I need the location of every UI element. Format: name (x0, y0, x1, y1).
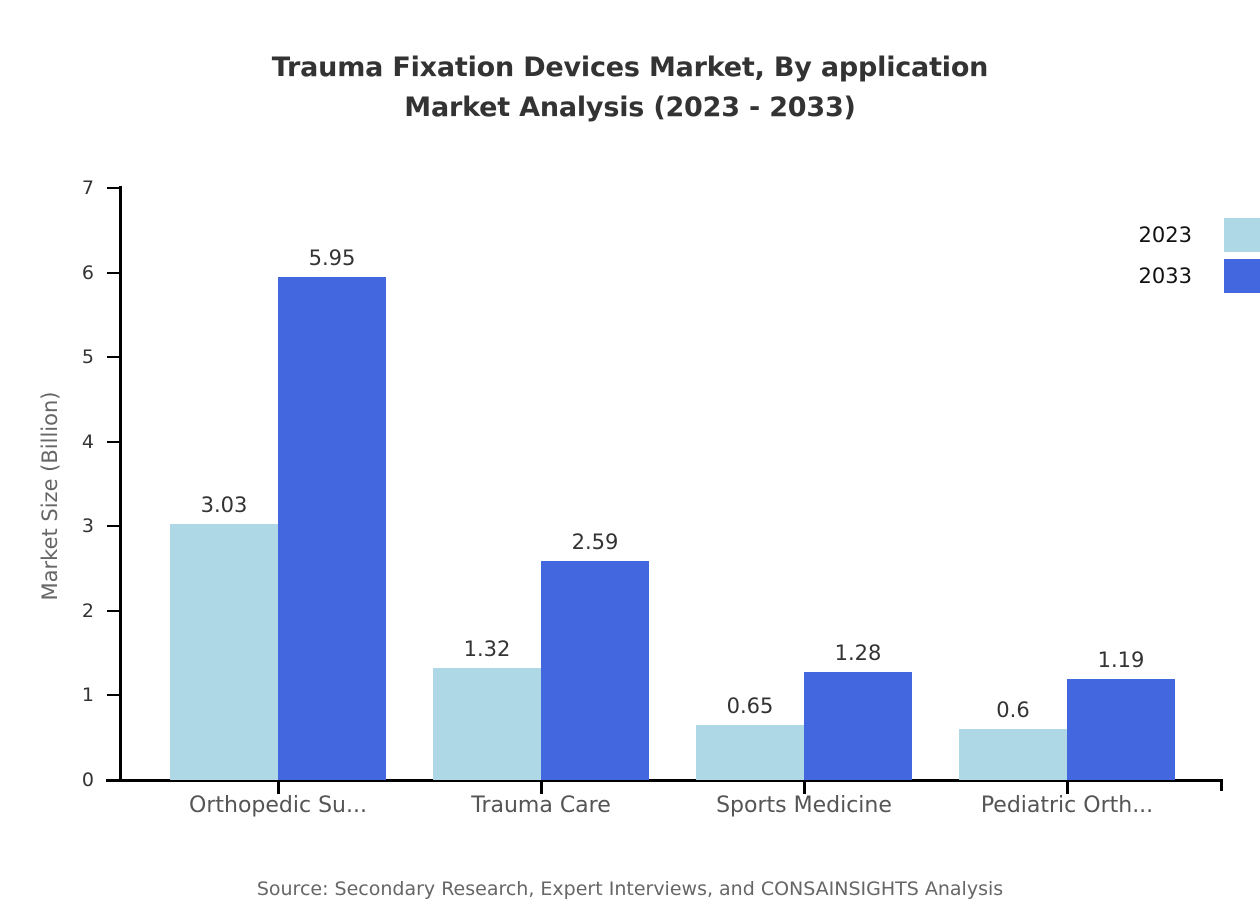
y-tick-mark (107, 187, 121, 189)
bar-value-label: 1.28 (778, 641, 938, 665)
x-tick-label: Orthopedic Su... (128, 793, 428, 818)
legend-item-2033[interactable]: 2033 (1120, 255, 1260, 296)
x-tick-label: Pediatric Orth... (917, 793, 1217, 818)
bar-chart: Trauma Fixation Devices Market, By appli… (0, 0, 1260, 920)
y-axis-line (119, 186, 122, 782)
bar-value-label: 5.95 (252, 246, 412, 270)
y-tick-label: 7 (20, 177, 94, 199)
x-tick-label: Trauma Care (391, 793, 691, 818)
bar-value-label: 1.19 (1041, 648, 1201, 672)
y-tick-mark (107, 272, 121, 274)
chart-title-line1: Trauma Fixation Devices Market, By appli… (272, 52, 988, 83)
bar-value-label: 2.59 (515, 530, 675, 554)
legend-item-2023[interactable]: 2023 (1120, 214, 1260, 255)
chart-title: Trauma Fixation Devices Market, By appli… (0, 48, 1260, 128)
y-tick-mark (107, 356, 121, 358)
x-axis-end-tick (1220, 779, 1223, 791)
bar-2033-trauma-care[interactable] (541, 561, 649, 780)
bar-2033-sports-medicine[interactable] (804, 672, 912, 780)
y-tick-mark (107, 441, 121, 443)
bar-2033-orthopedic-su-[interactable] (278, 277, 386, 780)
chart-title-line2: Market Analysis (2023 - 2033) (0, 88, 1260, 128)
y-tick-label: 4 (20, 431, 94, 453)
bar-2023-orthopedic-su-[interactable] (170, 524, 278, 780)
y-tick-label: 3 (20, 515, 94, 537)
bar-2033-pediatric-orth-[interactable] (1067, 679, 1175, 780)
y-tick-mark (107, 610, 121, 612)
bar-2023-trauma-care[interactable] (433, 668, 541, 780)
legend-label-2023: 2023 (1139, 223, 1192, 247)
y-tick-mark (107, 694, 121, 696)
legend-swatch-2023 (1224, 218, 1260, 252)
y-tick-mark (107, 779, 121, 781)
y-tick-label: 6 (20, 262, 94, 284)
y-tick-label: 2 (20, 600, 94, 622)
chart-legend: 2023 2033 (1120, 214, 1260, 296)
legend-label-2033: 2033 (1139, 264, 1192, 288)
x-tick-label: Sports Medicine (654, 793, 954, 818)
source-note: Source: Secondary Research, Expert Inter… (0, 878, 1260, 900)
legend-swatch-2033 (1224, 259, 1260, 293)
bar-2023-pediatric-orth-[interactable] (959, 729, 1067, 780)
bar-2023-sports-medicine[interactable] (696, 725, 804, 780)
y-tick-label: 5 (20, 346, 94, 368)
y-tick-mark (107, 525, 121, 527)
y-tick-label: 0 (20, 769, 94, 791)
y-tick-label: 1 (20, 684, 94, 706)
